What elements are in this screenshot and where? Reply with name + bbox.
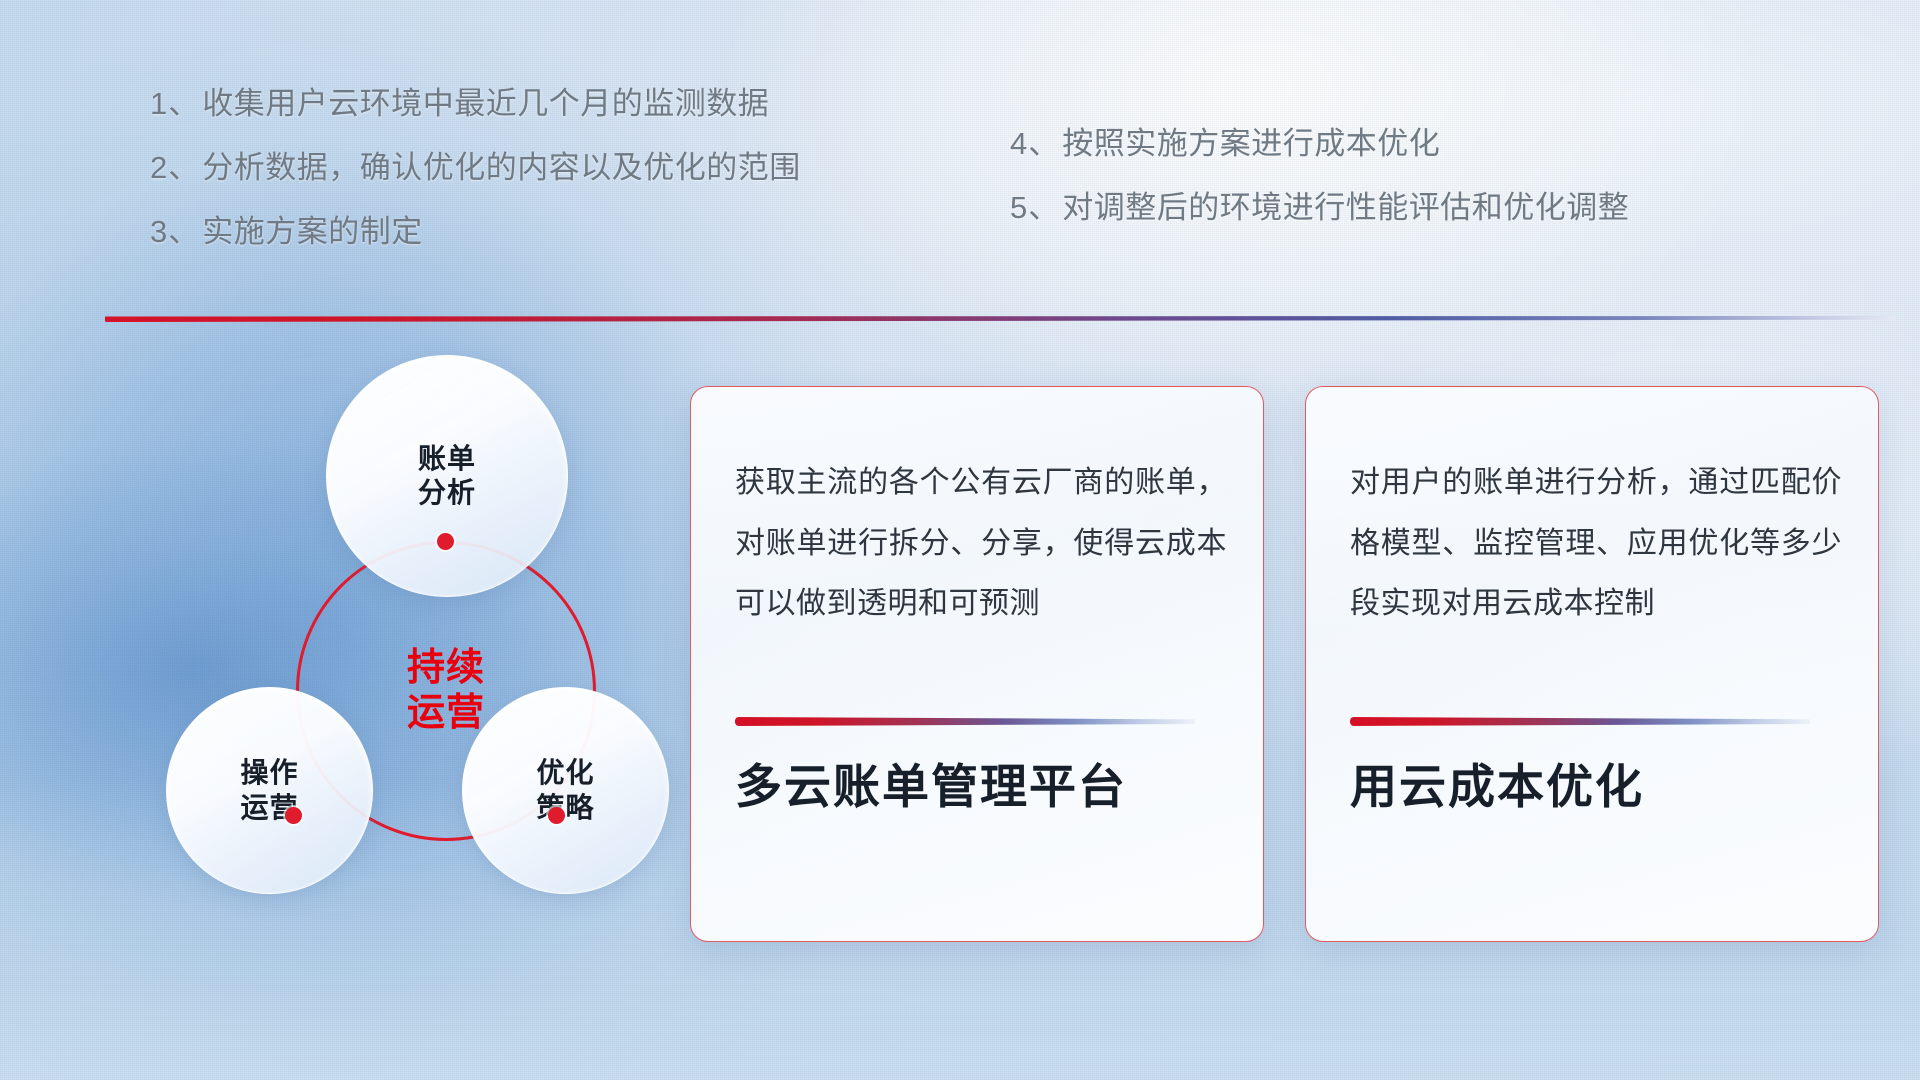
bubble-label-line-2: 策略 — [536, 791, 594, 825]
connector-dot-top — [437, 533, 454, 550]
venn-circle-diagram: 持续 运营 账单 分析 操作 运营 优化 策略 — [100, 355, 620, 935]
card-accent-rule — [1350, 717, 1810, 726]
process-item-text: 实施方案的制定 — [202, 216, 423, 247]
card-title: 用云成本优化 — [1350, 759, 1842, 815]
card-multicloud-billing-platform[interactable]: 获取主流的各个公有云厂商的账单，对账单进行拆分、分享，使得云成本可以做到透明和可… — [690, 386, 1264, 942]
process-item-number: 4、 — [1010, 128, 1060, 159]
card-cloud-cost-optimization[interactable]: 对用户的账单进行分析，通过匹配价格模型、监控管理、应用优化等多少段实现对用云成本… — [1305, 386, 1879, 942]
process-item: 2、 分析数据，确认优化的内容以及优化的范围 — [150, 152, 801, 183]
process-item: 5、 对调整后的环境进行性能评估和优化调整 — [1010, 192, 1629, 223]
process-item-number: 1、 — [150, 88, 200, 119]
card-body-text: 获取主流的各个公有云厂商的账单，对账单进行拆分、分享，使得云成本可以做到透明和可… — [735, 453, 1227, 635]
process-step-list: 1、 收集用户云环境中最近几个月的监测数据 2、 分析数据，确认优化的内容以及优… — [0, 88, 1920, 253]
card-body-text: 对用户的账单进行分析，通过匹配价格模型、监控管理、应用优化等多少段实现对用云成本… — [1350, 453, 1842, 635]
process-item-text: 对调整后的环境进行性能评估和优化调整 — [1062, 192, 1629, 223]
card-accent-rule — [735, 717, 1195, 726]
process-item-text: 收集用户云环境中最近几个月的监测数据 — [202, 88, 769, 119]
card-title: 多云账单管理平台 — [735, 759, 1227, 815]
bubble-optimization-strategy[interactable]: 优化 策略 — [462, 687, 669, 894]
bubble-billing-analysis[interactable]: 账单 分析 — [326, 355, 568, 597]
slide-canvas: 1、 收集用户云环境中最近几个月的监测数据 2、 分析数据，确认优化的内容以及优… — [0, 0, 1920, 1080]
process-item: 3、 实施方案的制定 — [150, 216, 801, 247]
process-item: 4、 按照实施方案进行成本优化 — [1010, 128, 1629, 159]
center-label-line-2: 运营 — [407, 691, 485, 736]
connector-dot-bottom-right — [548, 807, 565, 824]
process-column-right: 4、 按照实施方案进行成本优化 5、 对调整后的环境进行性能评估和优化调整 — [1010, 128, 1629, 256]
process-item-number: 2、 — [150, 152, 200, 183]
process-column-left: 1、 收集用户云环境中最近几个月的监测数据 2、 分析数据，确认优化的内容以及优… — [150, 88, 801, 280]
process-item-number: 3、 — [150, 216, 200, 247]
connector-dot-bottom-left — [285, 807, 302, 824]
bubble-operations[interactable]: 操作 运营 — [166, 687, 373, 894]
center-label-line-1: 持续 — [407, 646, 485, 691]
process-item: 1、 收集用户云环境中最近几个月的监测数据 — [150, 88, 801, 119]
process-item-number: 5、 — [1010, 192, 1060, 223]
bubble-label-line-1: 账单 — [418, 442, 476, 476]
process-item-text: 分析数据，确认优化的内容以及优化的范围 — [202, 152, 801, 183]
bubble-label-line-1: 操作 — [240, 756, 298, 790]
bubble-label-line-2: 分析 — [418, 476, 476, 510]
process-item-text: 按照实施方案进行成本优化 — [1062, 128, 1440, 159]
bubble-label-line-1: 优化 — [536, 756, 594, 790]
